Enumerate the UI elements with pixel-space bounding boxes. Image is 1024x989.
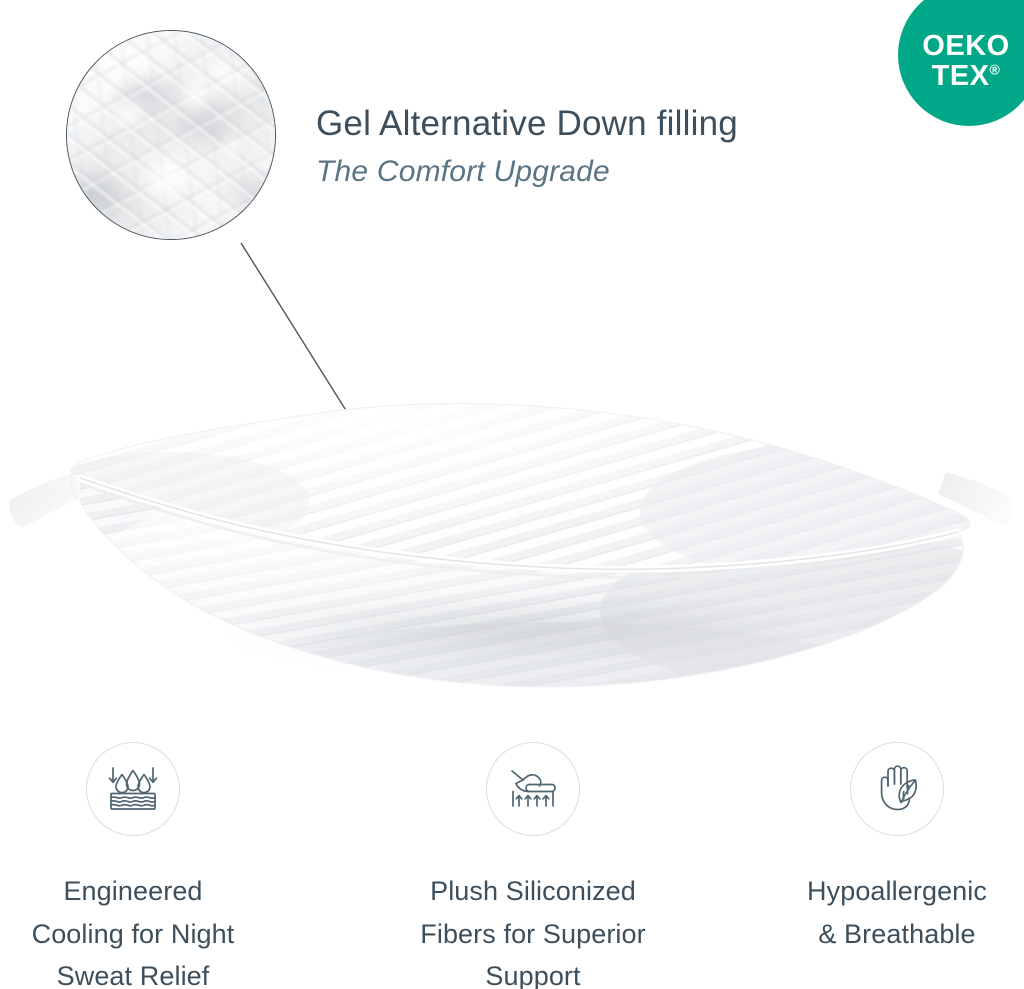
- registered-trademark-icon: ®: [990, 61, 1001, 77]
- caption-line: Cooling for Night: [0, 913, 283, 956]
- caption-line: Sweat Relief: [0, 955, 283, 989]
- oeko-tex-word: TEX: [932, 60, 990, 92]
- striped-pillow: [0, 382, 1024, 712]
- feature-support: Plush Siliconized Fibers for Superior Su…: [383, 742, 683, 989]
- feature-caption: Hypoallergenic & Breathable: [747, 870, 1024, 955]
- hand-with-leaf-icon: [868, 760, 926, 818]
- fiber-texture-highlights: [67, 31, 275, 239]
- feature-icon-ring: [850, 742, 944, 836]
- page-subtitle: The Comfort Upgrade: [316, 155, 610, 189]
- feature-icon-ring: [86, 742, 180, 836]
- page-title: Gel Alternative Down filling: [316, 104, 738, 144]
- oeko-tex-badge: OEKO TEX®: [898, 0, 1024, 126]
- feature-caption: Plush Siliconized Fibers for Superior Su…: [383, 870, 683, 989]
- caption-line: Fibers for Superior: [383, 913, 683, 956]
- water-droplets-cooling-icon: [104, 760, 162, 818]
- caption-line: Support: [383, 955, 683, 989]
- caption-line: Plush Siliconized: [383, 870, 683, 913]
- feature-cooling: Engineered Cooling for Night Sweat Relie…: [0, 742, 283, 989]
- caption-line: & Breathable: [747, 913, 1024, 956]
- feature-caption: Engineered Cooling for Night Sweat Relie…: [0, 870, 283, 989]
- oeko-tex-line-1: OEKO: [922, 32, 1009, 62]
- pillow-shadow: [108, 582, 938, 674]
- oeko-tex-line-2: TEX®: [932, 62, 1001, 92]
- feature-hypoallergenic: Hypoallergenic & Breathable: [747, 742, 1024, 955]
- caption-line: Hypoallergenic: [747, 870, 1024, 913]
- head-on-pillow-support-icon: [504, 760, 562, 818]
- caption-line: Engineered: [0, 870, 283, 913]
- fiber-closeup-circle: [66, 30, 276, 240]
- product-feature-graphic: Gel Alternative Down filling The Comfort…: [0, 0, 1024, 989]
- feature-icon-ring: [486, 742, 580, 836]
